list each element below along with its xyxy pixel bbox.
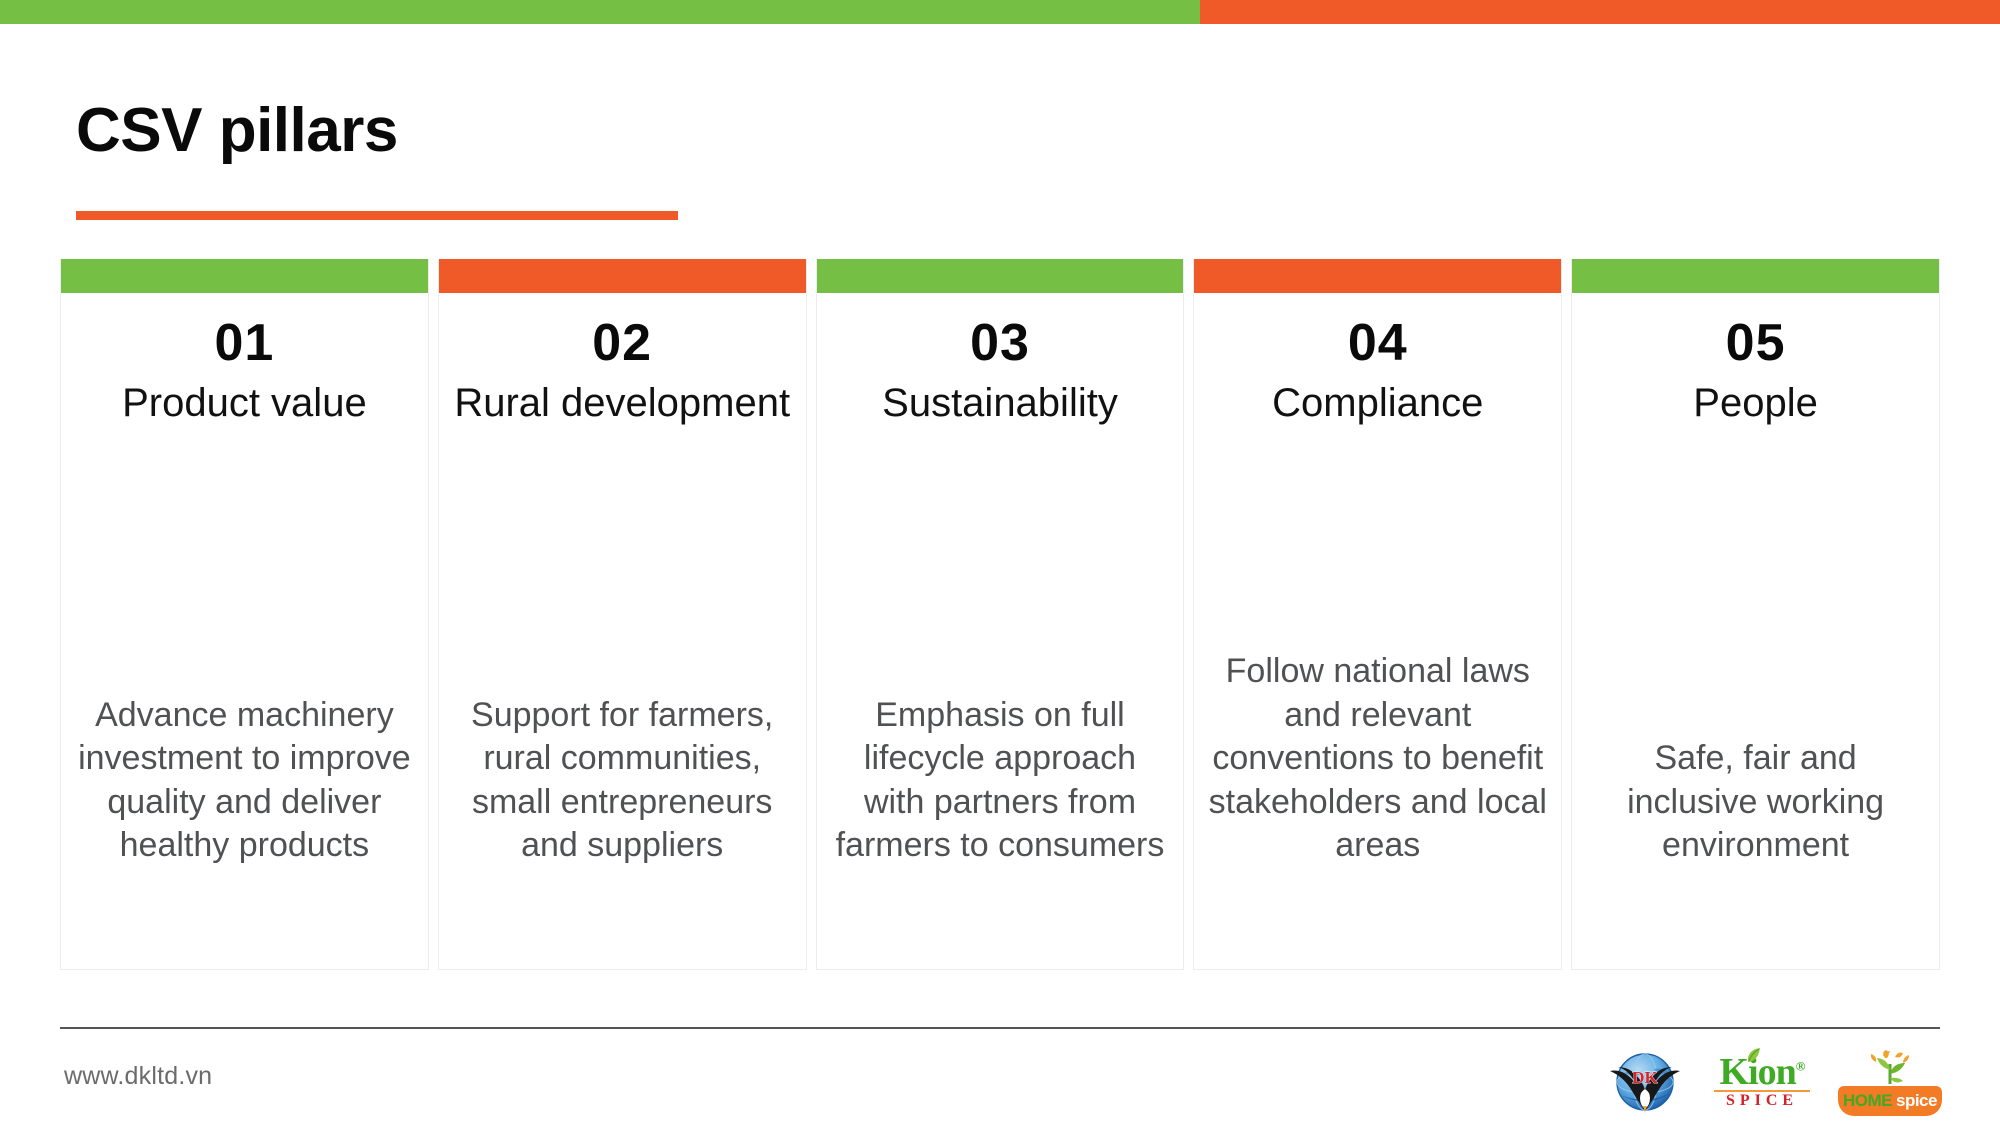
card-body-01: Advance machinery investment to improve … (61, 694, 428, 868)
pillar-card-05[interactable]: 05 People Safe, fair and inclusive worki… (1571, 259, 1940, 970)
kion-tagline: SPICE (1726, 1093, 1798, 1109)
card-body-wrap-01: Advance machinery investment to improve … (61, 428, 428, 868)
spice-word: spice (1896, 1091, 1937, 1111)
card-title-02: Rural development (444, 379, 800, 428)
home-spice-banner: HOME spice (1838, 1086, 1942, 1116)
top-bar-green-segment (0, 0, 1200, 24)
card-title-01: Product value (112, 379, 377, 428)
footer-website-url[interactable]: www.dkltd.vn (64, 1062, 212, 1091)
kion-registered-mark: ® (1796, 1058, 1805, 1073)
card-body-04: Follow national laws and relevant conven… (1194, 650, 1561, 868)
card-body-03: Emphasis on full lifecycle approach with… (817, 694, 1184, 868)
svg-text:DK: DK (1632, 1068, 1658, 1087)
card-body-02: Support for farmers, rural communities, … (439, 694, 806, 868)
card-accent-bar-02 (439, 259, 806, 293)
card-body-05: Safe, fair and inclusive working environ… (1572, 737, 1939, 868)
pillar-card-03[interactable]: 03 Sustainability Emphasis on full lifec… (816, 259, 1185, 970)
home-spice-plant-icon (1853, 1050, 1927, 1086)
top-accent-bar (0, 0, 2000, 24)
card-number-05: 05 (1726, 317, 1786, 369)
footer-logo-group: DK Kion® SPICE HOME spice (1602, 1044, 1944, 1120)
home-word: HOME (1843, 1091, 1892, 1111)
top-bar-orange-segment (1200, 0, 2000, 24)
kion-spice-logo: Kion® SPICE (1706, 1050, 1818, 1114)
card-body-wrap-04: Follow national laws and relevant conven… (1194, 428, 1561, 868)
card-number-02: 02 (592, 317, 652, 369)
footer-divider (60, 1027, 1940, 1029)
card-title-03: Sustainability (872, 379, 1128, 428)
pillar-card-04[interactable]: 04 Compliance Follow national laws and r… (1193, 259, 1562, 970)
kion-wordmark: Kion® (1720, 1055, 1805, 1090)
card-number-04: 04 (1348, 317, 1408, 369)
card-accent-bar-04 (1194, 259, 1561, 293)
card-title-05: People (1683, 379, 1828, 428)
kion-leaf-icon (1746, 1046, 1762, 1076)
dk-globe-eagle-icon: DK (1602, 1049, 1688, 1115)
pillar-card-02[interactable]: 02 Rural development Support for farmers… (438, 259, 807, 970)
card-body-wrap-02: Support for farmers, rural communities, … (439, 428, 806, 868)
card-number-01: 01 (214, 317, 274, 369)
card-accent-bar-03 (817, 259, 1184, 293)
title-underline-rule (76, 211, 678, 220)
card-title-04: Compliance (1262, 379, 1493, 428)
card-number-03: 03 (970, 317, 1030, 369)
dk-logo: DK (1602, 1049, 1688, 1115)
pillar-card-row: 01 Product value Advance machinery inves… (60, 259, 1940, 970)
card-body-wrap-03: Emphasis on full lifecycle approach with… (817, 428, 1184, 868)
page-title: CSV pillars (76, 98, 398, 163)
card-accent-bar-01 (61, 259, 428, 293)
home-spice-logo: HOME spice (1836, 1048, 1944, 1116)
card-body-wrap-05: Safe, fair and inclusive working environ… (1572, 428, 1939, 868)
pillar-card-01[interactable]: 01 Product value Advance machinery inves… (60, 259, 429, 970)
card-accent-bar-05 (1572, 259, 1939, 293)
